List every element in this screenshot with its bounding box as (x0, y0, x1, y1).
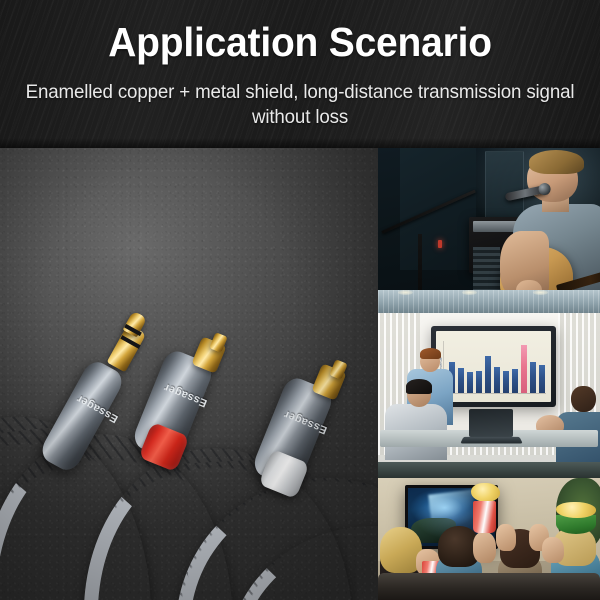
scene-business-conference-room: Revenue (378, 313, 600, 478)
ceiling-spot-light (398, 290, 413, 295)
laptop (469, 409, 513, 437)
bar-2 (458, 368, 464, 393)
ceiling-spot-light (533, 290, 548, 295)
content-area: Essager Essager Essager (0, 148, 600, 600)
bar-6 (494, 367, 500, 393)
ceiling-spot-light (462, 290, 477, 295)
musician-hair (529, 150, 585, 175)
viewer-4-arm (542, 537, 564, 564)
viewer-2-raised-arm (473, 532, 495, 564)
page-title: Application Scenario (15, 16, 585, 68)
bar-9 (521, 345, 527, 393)
product-marketing-image: Application Scenario Enamelled copper + … (0, 0, 600, 600)
bar-3 (467, 372, 473, 393)
bar-5 (485, 356, 491, 393)
presenter-hair (420, 348, 441, 360)
display-screen: Revenue (436, 331, 550, 402)
page-subtitle: Enamelled copper + metal shield, long-di… (24, 80, 577, 130)
scene-live-music-studio (378, 148, 600, 313)
product-photo-cable: Essager Essager Essager (0, 148, 378, 600)
viewer-3-raised-hand-left (496, 524, 516, 551)
photo-vignette (0, 148, 378, 600)
table-front-edge (378, 462, 600, 479)
couch (378, 573, 600, 600)
attendee-right-head (571, 386, 595, 412)
header-banner: Application Scenario Enamelled copper + … (0, 0, 600, 148)
popcorn-burst (471, 483, 500, 503)
bar-11 (539, 365, 545, 393)
bar-chart (449, 343, 545, 393)
scene-home-theater (378, 478, 600, 600)
amplifier-led (438, 240, 442, 248)
bar-7 (503, 371, 509, 393)
bar-8 (512, 369, 518, 393)
popcorn-box (473, 501, 495, 533)
door (485, 151, 525, 222)
bar-10 (530, 362, 536, 393)
attendee-left-hair (406, 379, 433, 394)
bar-4 (476, 371, 482, 393)
